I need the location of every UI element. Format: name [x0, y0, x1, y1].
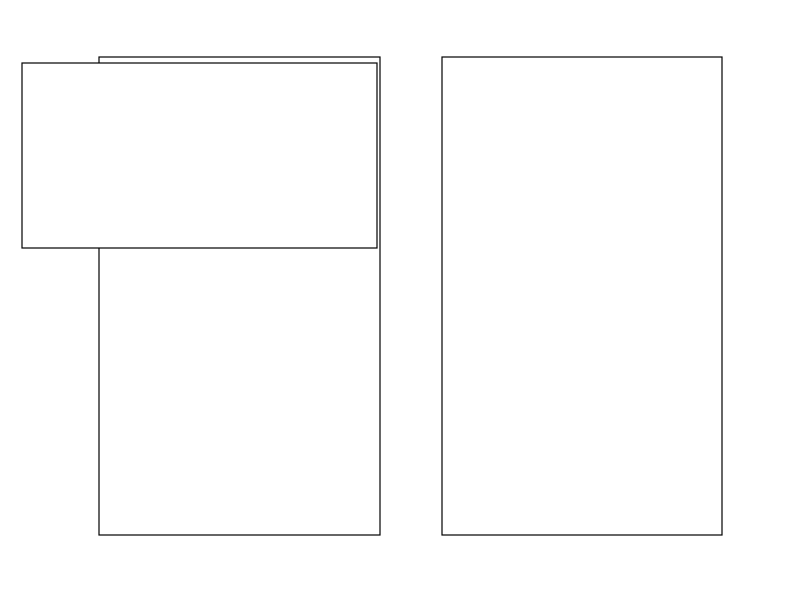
legend-frame	[22, 63, 377, 248]
legend	[22, 63, 377, 248]
figure-canvas	[0, 0, 800, 600]
matplotlib-figure	[0, 0, 800, 600]
